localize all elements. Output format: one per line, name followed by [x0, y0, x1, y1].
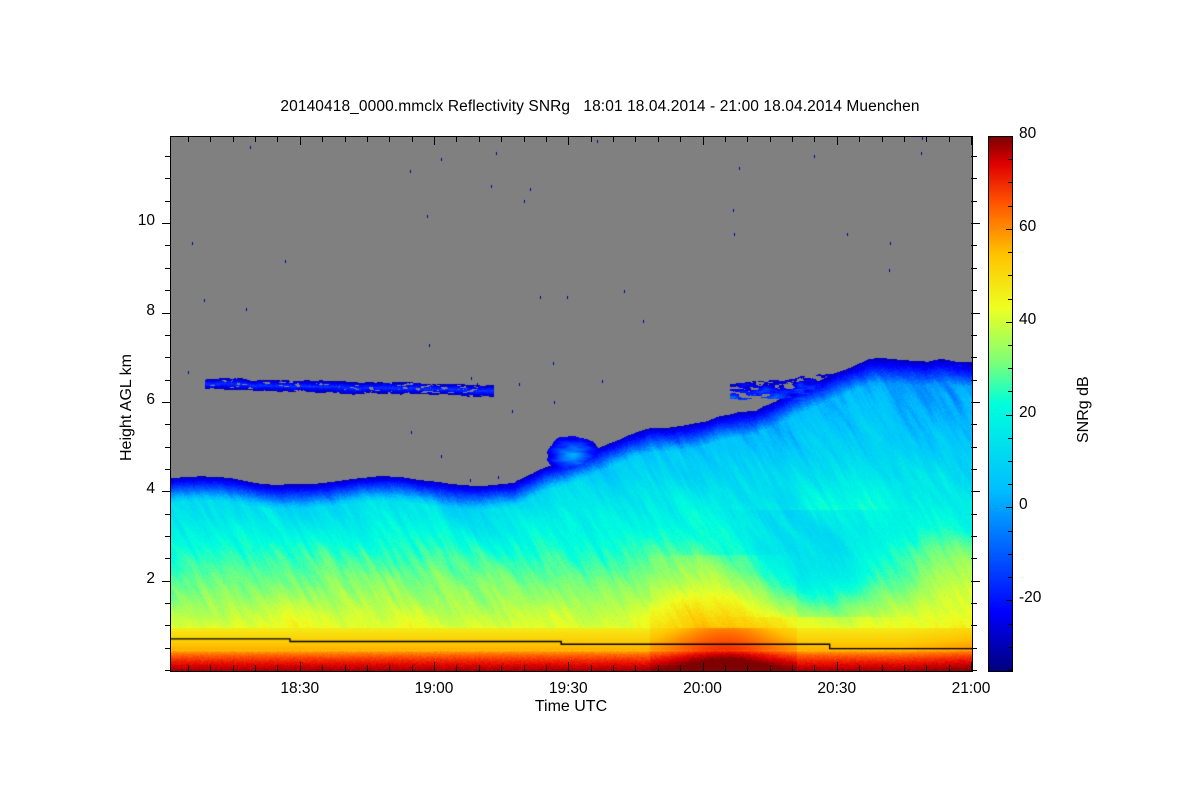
x-tick-minor-top: [345, 136, 346, 142]
x-tick-minor-top: [635, 136, 636, 142]
y-tick-minor-right: [971, 268, 977, 269]
colorbar-tick-minor: [1008, 531, 1012, 532]
x-tick-major-top: [568, 136, 569, 145]
y-tick-minor: [165, 424, 171, 425]
x-tick-major: [837, 662, 838, 671]
y-tick-major: [162, 581, 171, 582]
colorbar-tick-major: [1006, 229, 1012, 230]
y-tick-major-right: [971, 402, 980, 403]
y-tick-minor: [165, 625, 171, 626]
y-tick-minor-right: [971, 290, 977, 291]
x-tick-minor: [322, 665, 323, 671]
colorbar-tick-minor: [1008, 624, 1012, 625]
y-tick-label: 10: [100, 212, 155, 230]
colorbar-tick-major: [1006, 136, 1012, 137]
y-tick-minor-right: [971, 536, 977, 537]
y-tick-minor-right: [971, 357, 977, 358]
colorbar-tick-minor: [1008, 275, 1012, 276]
colorbar-tick-minor: [1008, 182, 1012, 183]
x-tick-minor-top: [210, 136, 211, 142]
x-tick-major-top: [971, 136, 972, 145]
colorbar-tick-label: 0: [1019, 496, 1065, 514]
x-tick-minor: [747, 665, 748, 671]
x-tick-minor: [345, 665, 346, 671]
y-tick-major: [162, 491, 171, 492]
y-tick-minor: [165, 648, 171, 649]
x-tick-label: 19:30: [523, 680, 613, 698]
colorbar-tick-major: [1006, 322, 1012, 323]
colorbar-tick-label: 80: [1019, 125, 1065, 143]
y-tick-minor: [165, 335, 171, 336]
y-tick-minor: [165, 469, 171, 470]
x-tick-minor-top: [882, 136, 883, 142]
y-tick-minor: [165, 603, 171, 604]
y-tick-minor: [165, 536, 171, 537]
figure-canvas: 20140418_0000.mmclx Reflectivity SNRg 18…: [0, 0, 1200, 800]
colorbar-tick-major: [1006, 600, 1012, 601]
x-tick-major-top: [434, 136, 435, 145]
x-tick-major-top: [703, 136, 704, 145]
colorbar-tick-minor: [1008, 299, 1012, 300]
y-tick-minor: [165, 156, 171, 157]
x-tick-minor: [770, 665, 771, 671]
x-tick-minor: [859, 665, 860, 671]
x-tick-minor: [725, 665, 726, 671]
x-tick-minor-top: [613, 136, 614, 142]
x-tick-minor-top: [255, 136, 256, 142]
y-tick-minor: [165, 268, 171, 269]
x-tick-minor: [882, 665, 883, 671]
x-tick-minor-top: [367, 136, 368, 142]
colorbar-tick-label: 40: [1019, 311, 1065, 329]
y-tick-minor-right: [971, 178, 977, 179]
y-tick-minor: [165, 357, 171, 358]
x-tick-minor-top: [747, 136, 748, 142]
y-tick-minor-right: [971, 335, 977, 336]
x-tick-minor-top: [680, 136, 681, 142]
x-tick-minor-top: [546, 136, 547, 142]
x-tick-minor: [479, 665, 480, 671]
x-tick-minor: [524, 665, 525, 671]
x-tick-minor-top: [524, 136, 525, 142]
x-tick-label: 19:00: [389, 680, 479, 698]
x-tick-major-top: [837, 136, 838, 145]
y-tick-label: 4: [100, 480, 155, 498]
x-tick-minor-top: [412, 136, 413, 142]
x-tick-minor: [501, 665, 502, 671]
x-tick-minor: [389, 665, 390, 671]
x-tick-minor-top: [456, 136, 457, 142]
heatmap-plot-area: [170, 136, 973, 672]
colorbar-tick-minor: [1008, 461, 1012, 462]
y-tick-label: 2: [100, 570, 155, 588]
colorbar-tick-minor: [1008, 577, 1012, 578]
x-tick-minor: [255, 665, 256, 671]
y-tick-minor-right: [971, 670, 977, 671]
x-tick-minor-top: [277, 136, 278, 142]
x-tick-label: 21:00: [926, 680, 1016, 698]
y-tick-minor-right: [971, 603, 977, 604]
x-tick-minor: [814, 665, 815, 671]
x-tick-major: [568, 662, 569, 671]
y-tick-major-right: [971, 491, 980, 492]
y-tick-minor: [165, 380, 171, 381]
y-tick-major-right: [971, 581, 980, 582]
x-tick-minor-top: [926, 136, 927, 142]
y-tick-major-right: [971, 313, 980, 314]
x-tick-minor-top: [859, 136, 860, 142]
y-tick-major: [162, 223, 171, 224]
colorbar-tick-minor: [1008, 438, 1012, 439]
y-tick-minor: [165, 558, 171, 559]
x-tick-minor: [367, 665, 368, 671]
x-tick-label: 18:30: [255, 680, 345, 698]
colorbar-tick-minor: [1008, 368, 1012, 369]
colorbar-tick-minor: [1008, 647, 1012, 648]
y-tick-minor: [165, 290, 171, 291]
y-tick-minor-right: [971, 245, 977, 246]
x-tick-minor-top: [949, 136, 950, 142]
x-tick-major: [434, 662, 435, 671]
x-tick-minor: [904, 665, 905, 671]
x-tick-minor-top: [591, 136, 592, 142]
y-tick-minor-right: [971, 424, 977, 425]
x-tick-minor: [188, 665, 189, 671]
y-tick-label: 8: [100, 302, 155, 320]
x-tick-minor: [949, 665, 950, 671]
y-tick-minor: [165, 201, 171, 202]
x-tick-minor-top: [658, 136, 659, 142]
x-tick-minor: [546, 665, 547, 671]
x-tick-minor: [412, 665, 413, 671]
colorbar-tick-label: 60: [1019, 218, 1065, 236]
x-tick-major: [703, 662, 704, 671]
colorbar-tick-minor: [1008, 554, 1012, 555]
colorbar-tick-minor: [1008, 670, 1012, 671]
colorbar-title: SNRg dB: [1075, 376, 1093, 443]
x-tick-major-top: [300, 136, 301, 145]
x-tick-minor: [591, 665, 592, 671]
colorbar-tick-label: -20: [1019, 589, 1065, 607]
x-tick-minor: [792, 665, 793, 671]
x-tick-minor: [210, 665, 211, 671]
y-tick-minor: [165, 178, 171, 179]
y-tick-minor: [165, 245, 171, 246]
y-tick-minor: [165, 514, 171, 515]
colorbar-tick-minor: [1008, 206, 1012, 207]
colorbar-tick-minor: [1008, 484, 1012, 485]
x-tick-minor: [233, 665, 234, 671]
x-tick-minor: [926, 665, 927, 671]
y-tick-major: [162, 402, 171, 403]
x-tick-minor-top: [904, 136, 905, 142]
y-tick-minor-right: [971, 558, 977, 559]
y-tick-minor-right: [971, 625, 977, 626]
x-tick-major: [300, 662, 301, 671]
colorbar: [988, 136, 1013, 672]
y-tick-major: [162, 313, 171, 314]
colorbar-tick-minor: [1008, 252, 1012, 253]
y-tick-minor: [165, 670, 171, 671]
y-tick-minor-right: [971, 648, 977, 649]
x-tick-minor-top: [479, 136, 480, 142]
x-tick-label: 20:00: [658, 680, 748, 698]
colorbar-gradient: [989, 137, 1012, 671]
colorbar-tick-minor: [1008, 391, 1012, 392]
x-tick-minor-top: [792, 136, 793, 142]
x-tick-minor: [680, 665, 681, 671]
colorbar-tick-major: [1006, 415, 1012, 416]
x-tick-minor: [277, 665, 278, 671]
y-tick-minor-right: [971, 447, 977, 448]
x-tick-minor-top: [188, 136, 189, 142]
y-tick-minor-right: [971, 514, 977, 515]
reflectivity-heatmap: [171, 137, 972, 671]
x-tick-minor-top: [233, 136, 234, 142]
x-tick-minor: [635, 665, 636, 671]
x-tick-minor: [613, 665, 614, 671]
x-tick-minor-top: [501, 136, 502, 142]
x-tick-label: 20:30: [792, 680, 882, 698]
x-axis-title: Time UTC: [170, 698, 972, 716]
y-axis-title: Height AGL km: [118, 354, 136, 461]
y-tick-minor-right: [971, 469, 977, 470]
x-tick-minor-top: [389, 136, 390, 142]
colorbar-tick-minor: [1008, 345, 1012, 346]
y-tick-minor-right: [971, 380, 977, 381]
colorbar-tick-label: 20: [1019, 404, 1065, 422]
x-tick-minor-top: [770, 136, 771, 142]
x-tick-minor: [456, 665, 457, 671]
page-title: 20140418_0000.mmclx Reflectivity SNRg 18…: [0, 98, 1200, 116]
y-tick-minor-right: [971, 201, 977, 202]
colorbar-tick-major: [1006, 507, 1012, 508]
x-tick-minor-top: [322, 136, 323, 142]
y-tick-minor: [165, 447, 171, 448]
y-tick-minor-right: [971, 156, 977, 157]
y-tick-major-right: [971, 223, 980, 224]
x-tick-minor-top: [814, 136, 815, 142]
x-tick-minor: [658, 665, 659, 671]
x-tick-minor-top: [725, 136, 726, 142]
colorbar-tick-minor: [1008, 159, 1012, 160]
